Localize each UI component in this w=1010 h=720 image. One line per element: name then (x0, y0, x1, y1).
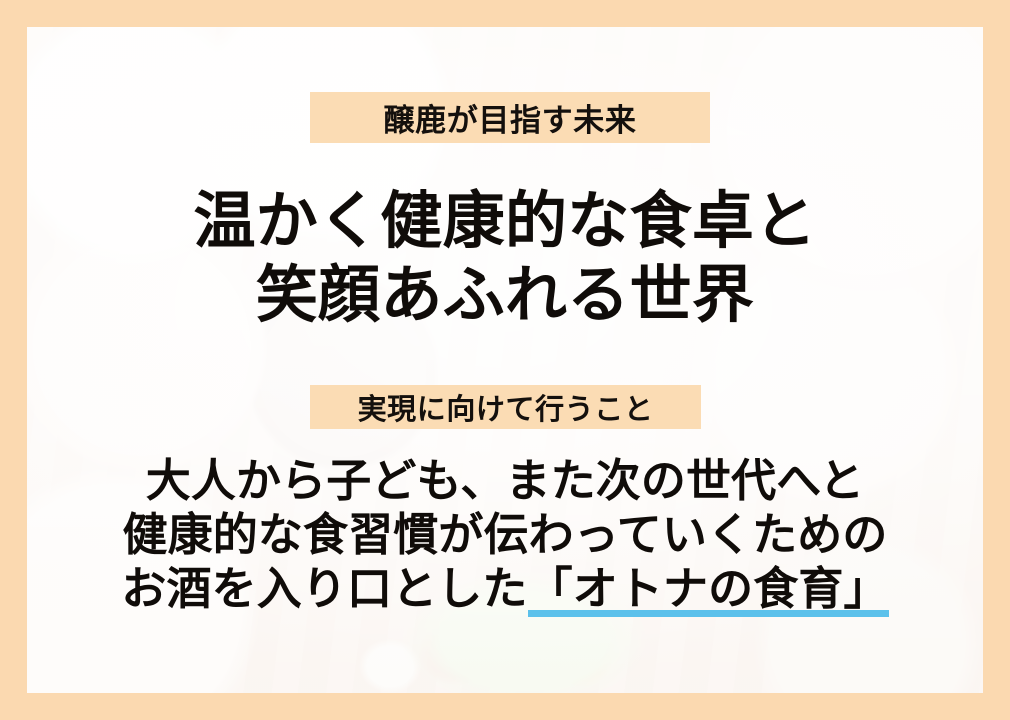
headline-line-2: 笑顔あふれる世界 (27, 259, 983, 333)
body-copy: 大人から子ども、また次の世代へと 健康的な食習慣が伝わっていくための お酒を入り… (27, 454, 983, 616)
headline-line-1: 温かく健康的な食卓と (27, 185, 983, 259)
headline: 温かく健康的な食卓と 笑顔あふれる世界 (27, 185, 983, 333)
body-line-2: 健康的な食習慣が伝わっていくための (27, 508, 983, 562)
badge-action: 実現に向けて行うこと (310, 385, 701, 429)
poster-content-stage: 醸鹿が目指す未来 温かく健康的な食卓と 笑顔あふれる世界 実現に向けて行うこと … (27, 27, 983, 693)
body-line-3-prefix: お酒を入り口とした (121, 563, 527, 614)
poster-frame: 醸鹿が目指す未来 温かく健康的な食卓と 笑顔あふれる世界 実現に向けて行うこと … (0, 0, 1010, 720)
body-line-3: お酒を入り口とした「オトナの食育」 (27, 562, 983, 616)
poster-overlay-content: 醸鹿が目指す未来 温かく健康的な食卓と 笑顔あふれる世界 実現に向けて行うこと … (27, 27, 983, 693)
body-line-1: 大人から子ども、また次の世代へと (27, 454, 983, 508)
badge-vision: 醸鹿が目指す未来 (310, 92, 710, 143)
body-line-3-highlight: 「オトナの食育」 (528, 563, 889, 617)
